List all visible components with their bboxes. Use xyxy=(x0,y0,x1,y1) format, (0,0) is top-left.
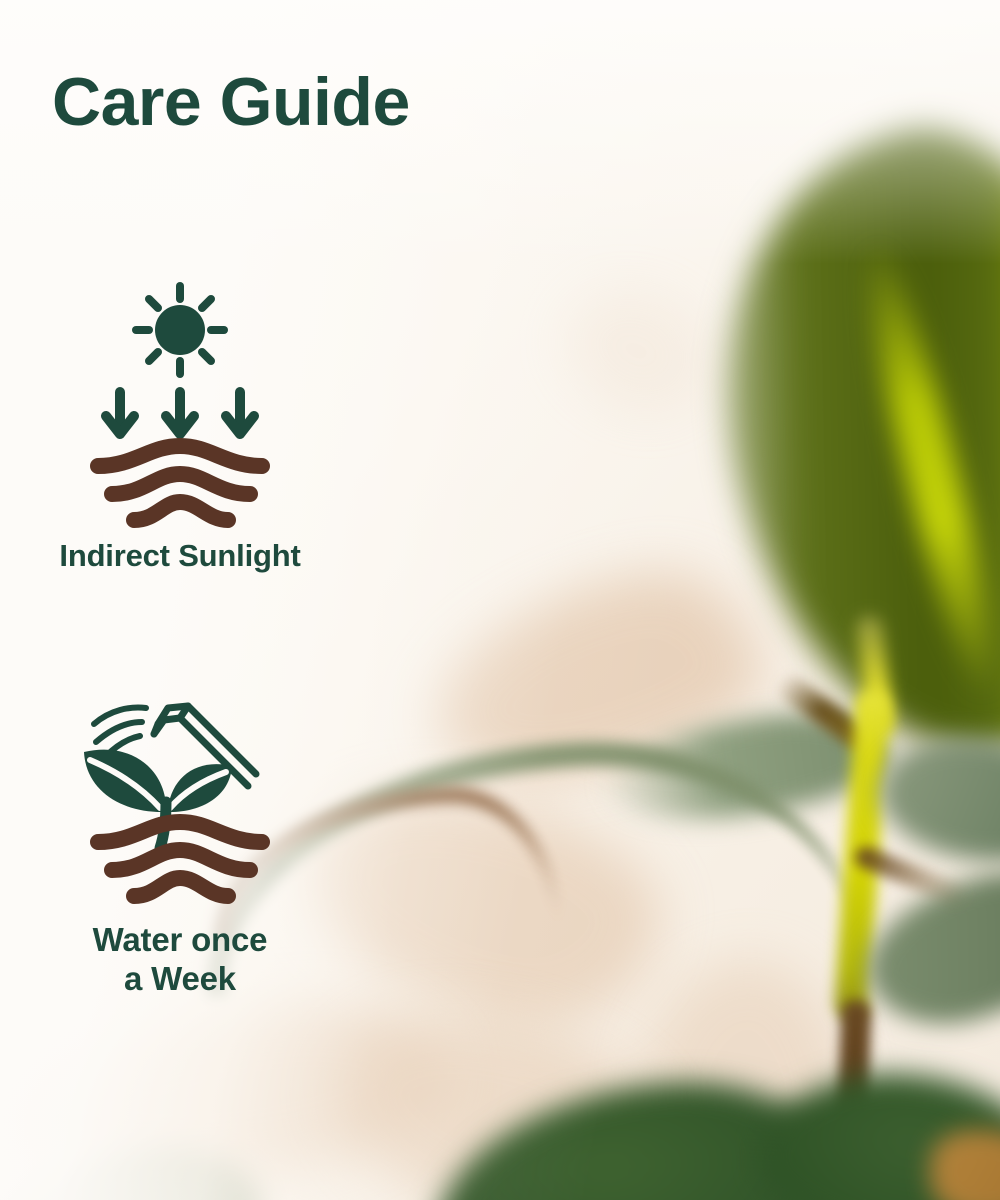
sun-icon xyxy=(155,305,205,355)
care-item-label-line-1: Water once xyxy=(0,921,360,960)
watering-sprout-soil-icon xyxy=(0,690,360,905)
soil-waves-icon xyxy=(98,446,262,520)
soil-waves-icon xyxy=(98,822,262,896)
care-item-water-once-a-week: Water once a Week xyxy=(0,690,360,999)
spray-lines-icon xyxy=(94,708,146,756)
page-title: Care Guide xyxy=(52,68,410,136)
poster-content: Care Guide xyxy=(0,0,1000,1200)
down-arrows-icon xyxy=(106,392,254,434)
care-item-label-water-once-a-week: Water once a Week xyxy=(0,921,360,999)
care-item-label-line-2: a Week xyxy=(0,960,360,999)
care-item-indirect-sunlight: Indirect Sunlight xyxy=(0,280,360,575)
care-item-label-indirect-sunlight: Indirect Sunlight xyxy=(0,538,360,575)
watering-sprout-soil-icon-svg xyxy=(80,690,280,905)
sun-arrows-soil-icon-svg xyxy=(80,280,280,530)
care-guide-poster: Care Guide xyxy=(0,0,1000,1200)
sun-arrows-soil-icon xyxy=(0,280,360,530)
